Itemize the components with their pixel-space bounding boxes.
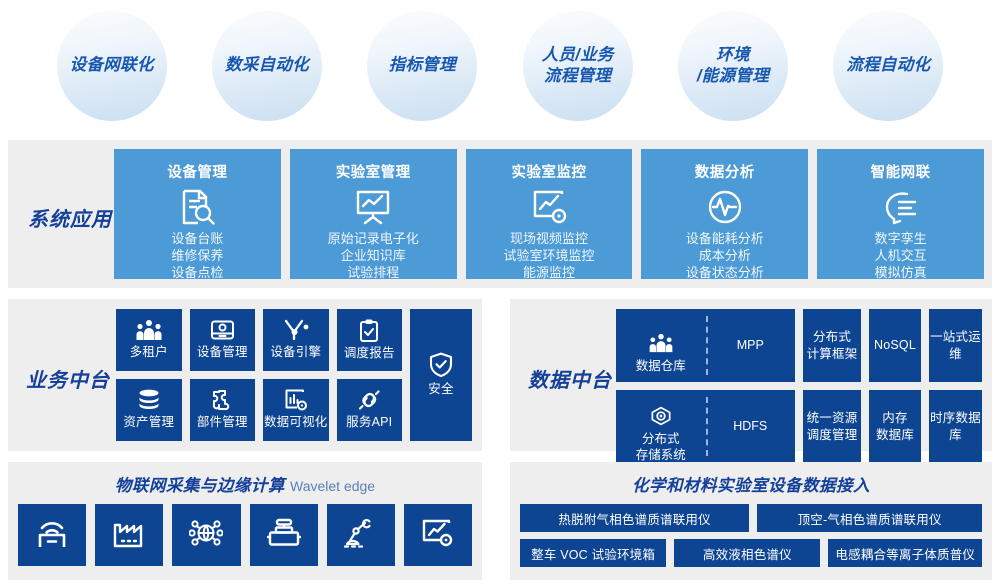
architecture-diagram: 设备网联化 数采自动化 指标管理 人员/业务 流程管理 环境 /能源管理 流程自… bbox=[0, 0, 1000, 588]
data-center-tiles: 数据仓库 MPP bbox=[616, 309, 982, 441]
device-box-icon bbox=[210, 319, 235, 341]
dc-half-left[interactable]: 分布式 存储系统 bbox=[616, 390, 706, 463]
chart-report-icon bbox=[284, 389, 308, 411]
tile-label: 服务API bbox=[346, 414, 392, 430]
puzzle-icon bbox=[211, 389, 233, 411]
bubble-1[interactable]: 数采自动化 bbox=[212, 11, 322, 121]
bubble-4[interactable]: 环境 /能源管理 bbox=[678, 11, 788, 121]
sys-card-items: 设备台账 维修保养 设备点检 bbox=[171, 230, 223, 281]
tile-label: 一站式运维 bbox=[929, 329, 982, 362]
system-application-cards: 设备管理 设备台账 维修保养 设备点检 实验室管理 bbox=[114, 149, 984, 279]
node-graph-icon bbox=[283, 319, 309, 341]
tile-label: 数据可视化 bbox=[264, 414, 328, 430]
tile-label: 多租户 bbox=[130, 344, 168, 360]
iot-edge-title: 物联网采集与边缘计算 Wavelet edge bbox=[8, 462, 482, 496]
data-center-split-column: 数据仓库 MPP bbox=[616, 309, 795, 463]
lab-equipment-title: 化学和材料实验室设备数据接入 bbox=[510, 462, 992, 496]
biz-tile-multi-tenant[interactable]: 多租户 bbox=[116, 309, 182, 371]
dc-tile-distributed-compute[interactable]: 分布式 计算框架 bbox=[803, 309, 861, 382]
tile-label: 资产管理 bbox=[123, 414, 174, 430]
data-center-panel: 数据中台 数据仓库 bbox=[510, 299, 992, 451]
biz-tile-security[interactable]: 安全 bbox=[410, 309, 472, 441]
multi-tenant-icon bbox=[649, 317, 673, 358]
lab-box-label: 高效液相色谱仪 bbox=[703, 544, 792, 563]
tile-label: 部件管理 bbox=[197, 414, 248, 430]
iot-tile-network-globe[interactable] bbox=[172, 504, 240, 566]
tile-label: 安全 bbox=[428, 381, 453, 397]
sys-card-lab-monitoring[interactable]: 实验室监控 现场视频监控 试验室环境监控 能源监控 bbox=[466, 149, 633, 279]
lab-equipment-row-1: 热脱附气相色谱质谱联用仪 顶空-气相色谱质谱联用仪 bbox=[520, 504, 982, 532]
system-application-row-label: 系统应用 bbox=[28, 203, 112, 232]
lab-equipment-row-2: 整车 VOC 试验环境箱 高效液相色谱仪 电感耦合等离子体质普仪 bbox=[520, 539, 982, 567]
plug-connect-icon bbox=[357, 389, 382, 411]
biz-tile-asset-management[interactable]: 资产管理 bbox=[116, 379, 182, 441]
iot-edge-title-cn: 物联网采集与边缘计算 bbox=[115, 477, 285, 495]
business-center-panel: 业务中台 多租户 bbox=[8, 299, 482, 451]
sensor-device-icon bbox=[267, 518, 301, 553]
bubble-5[interactable]: 流程自动化 bbox=[833, 11, 943, 121]
dc-tile-distributed-storage-hdfs[interactable]: 分布式 存储系统 HDFS bbox=[616, 390, 795, 463]
tile-label: 设备引擎 bbox=[270, 344, 321, 360]
tile-label: HDFS bbox=[733, 418, 767, 434]
database-coins-icon bbox=[137, 389, 161, 411]
tile-label: 调度报告 bbox=[344, 345, 395, 361]
dc-half-right[interactable]: HDFS bbox=[706, 390, 796, 463]
lab-box-hplc[interactable]: 高效液相色谱仪 bbox=[674, 539, 820, 567]
lab-box-thermal-desorption-gcms[interactable]: 热脱附气相色谱质谱联用仪 bbox=[520, 504, 749, 532]
iot-edge-title-en: Wavelet edge bbox=[290, 478, 375, 494]
sys-card-items: 现场视频监控 试验室环境监控 能源监控 bbox=[503, 230, 594, 281]
biz-tile-data-visualization[interactable]: 数据可视化 bbox=[263, 379, 329, 441]
lab-box-icp-ms[interactable]: 电感耦合等离子体质普仪 bbox=[828, 539, 982, 567]
biz-tile-service-api[interactable]: 服务API bbox=[337, 379, 403, 441]
iot-edge-panel: 物联网采集与边缘计算 Wavelet edge bbox=[8, 462, 482, 580]
dc-tile-data-warehouse-mpp[interactable]: 数据仓库 MPP bbox=[616, 309, 795, 382]
sys-card-lab-management[interactable]: 实验室管理 原始记录电子化 企业知识库 试验排程 bbox=[290, 149, 457, 279]
multi-tenant-icon bbox=[136, 319, 162, 341]
bubble-label: 数采自动化 bbox=[225, 55, 309, 76]
dashed-divider bbox=[706, 316, 708, 375]
tile-label: 设备管理 bbox=[197, 344, 248, 360]
tile-label: 内存 数据库 bbox=[876, 410, 914, 443]
iot-tile-monitor-chart[interactable] bbox=[404, 504, 472, 566]
dashed-divider bbox=[706, 397, 708, 456]
lab-box-voc-chamber[interactable]: 整车 VOC 试验环境箱 bbox=[520, 539, 666, 567]
sys-card-items: 原始记录电子化 企业知识库 试验排程 bbox=[328, 230, 419, 281]
tile-label: 统一资源 调度管理 bbox=[807, 410, 858, 443]
system-application-panel: 系统应用 设备管理 设备台账 维修保养 设备点检 实验室管理 bbox=[8, 140, 992, 288]
dc-tile-nosql[interactable]: NoSQL bbox=[869, 309, 921, 382]
sys-card-title: 实验室监控 bbox=[511, 161, 586, 182]
tile-label: MPP bbox=[737, 337, 764, 353]
tile-label: NoSQL bbox=[874, 337, 916, 353]
sys-card-title: 实验室管理 bbox=[336, 161, 411, 182]
dc-tile-timeseries-db[interactable]: 时序数据库 bbox=[929, 390, 982, 463]
data-center-grid: 数据仓库 MPP bbox=[616, 309, 982, 441]
sys-card-title: 设备管理 bbox=[167, 161, 227, 182]
lab-box-label: 顶空-气相色谱质谱联用仪 bbox=[798, 509, 942, 528]
presentation-chart-icon bbox=[352, 186, 394, 228]
biz-tile-component-management[interactable]: 部件管理 bbox=[190, 379, 256, 441]
sys-card-items: 设备能耗分析 成本分析 设备状态分析 bbox=[686, 230, 764, 281]
bubble-label: 环境 /能源管理 bbox=[697, 45, 769, 87]
dc-half-left[interactable]: 数据仓库 bbox=[616, 309, 706, 382]
capability-bubble-row: 设备网联化 数采自动化 指标管理 人员/业务 流程管理 环境 /能源管理 流程自… bbox=[0, 0, 1000, 132]
bubble-3[interactable]: 人员/业务 流程管理 bbox=[523, 11, 633, 121]
iot-icon-row bbox=[8, 496, 482, 566]
network-globe-icon bbox=[189, 517, 223, 554]
lab-box-label: 电感耦合等离子体质普仪 bbox=[835, 544, 975, 563]
business-center-tiles: 多租户 设备管理 bbox=[116, 309, 472, 441]
iot-tile-factory[interactable] bbox=[95, 504, 163, 566]
wifi-gateway-icon bbox=[35, 517, 69, 554]
tile-label: 数据仓库 bbox=[636, 358, 686, 374]
bubble-label: 人员/业务 流程管理 bbox=[542, 45, 614, 87]
sys-card-items: 数字孪生 人机交互 模拟仿真 bbox=[875, 230, 927, 281]
document-search-icon bbox=[176, 186, 218, 228]
biz-tile-device-engine[interactable]: 设备引擎 bbox=[263, 309, 329, 371]
business-center-row-label: 业务中台 bbox=[26, 364, 110, 393]
tile-label: 分布式 存储系统 bbox=[636, 431, 686, 464]
dc-tile-in-memory-db[interactable]: 内存 数据库 bbox=[869, 390, 921, 463]
bubble-label: 流程自动化 bbox=[846, 55, 930, 76]
monitor-chart-icon bbox=[421, 518, 455, 553]
biz-tile-device-management[interactable]: 设备管理 bbox=[190, 309, 256, 371]
bubble-label: 指标管理 bbox=[389, 55, 456, 76]
sys-card-title: 智能网联 bbox=[871, 161, 931, 182]
business-center-tile-grid: 多租户 设备管理 bbox=[116, 309, 402, 441]
robot-arm-icon bbox=[344, 518, 378, 553]
monitor-chart-icon bbox=[528, 186, 570, 228]
pulse-circle-icon bbox=[704, 186, 746, 228]
sys-card-device-management[interactable]: 设备管理 设备台账 维修保养 设备点检 bbox=[114, 149, 281, 279]
data-center-right-grid: 分布式 计算框架 NoSQL 一站式运维 统一资源 调度管理 内存 数据库 bbox=[803, 309, 982, 463]
lab-box-label: 热脱附气相色谱质谱联用仪 bbox=[558, 509, 710, 528]
data-center-row-label: 数据中台 bbox=[528, 364, 612, 393]
bubble-0[interactable]: 设备网联化 bbox=[57, 11, 167, 121]
lab-equipment-panel: 化学和材料实验室设备数据接入 热脱附气相色谱质谱联用仪 顶空-气相色谱质谱联用仪… bbox=[510, 462, 992, 580]
sys-card-data-analysis[interactable]: 数据分析 设备能耗分析 成本分析 设备状态分析 bbox=[641, 149, 808, 279]
dc-tile-unified-resource-scheduling[interactable]: 统一资源 调度管理 bbox=[803, 390, 861, 463]
shield-check-icon bbox=[429, 352, 453, 378]
lab-equipment-rows: 热脱附气相色谱质谱联用仪 顶空-气相色谱质谱联用仪 整车 VOC 试验环境箱 高… bbox=[510, 496, 992, 567]
sys-card-intelligent-network[interactable]: 智能网联 数字孪生 人机交互 模拟仿真 bbox=[817, 149, 984, 279]
dc-tile-one-stop-ops[interactable]: 一站式运维 bbox=[929, 309, 982, 382]
distributed-storage-icon bbox=[650, 390, 672, 431]
bubble-2[interactable]: 指标管理 bbox=[367, 11, 477, 121]
dc-half-right[interactable]: MPP bbox=[706, 309, 796, 382]
bubble-label: 设备网联化 bbox=[70, 55, 154, 76]
ai-head-icon bbox=[880, 186, 922, 228]
factory-icon bbox=[112, 518, 146, 553]
iot-tile-robot-arm[interactable] bbox=[327, 504, 395, 566]
iot-tile-wifi-gateway[interactable] bbox=[18, 504, 86, 566]
biz-tile-schedule-report[interactable]: 调度报告 bbox=[337, 309, 403, 371]
tile-label: 时序数据库 bbox=[929, 410, 982, 443]
tile-label: 分布式 计算框架 bbox=[807, 329, 858, 362]
lab-box-label: 整车 VOC 试验环境箱 bbox=[531, 544, 655, 563]
clipboard-check-icon bbox=[359, 319, 379, 342]
iot-tile-sensor-device[interactable] bbox=[250, 504, 318, 566]
lab-box-headspace-gcms[interactable]: 顶空-气相色谱质谱联用仪 bbox=[757, 504, 982, 532]
sys-card-title: 数据分析 bbox=[695, 161, 755, 182]
